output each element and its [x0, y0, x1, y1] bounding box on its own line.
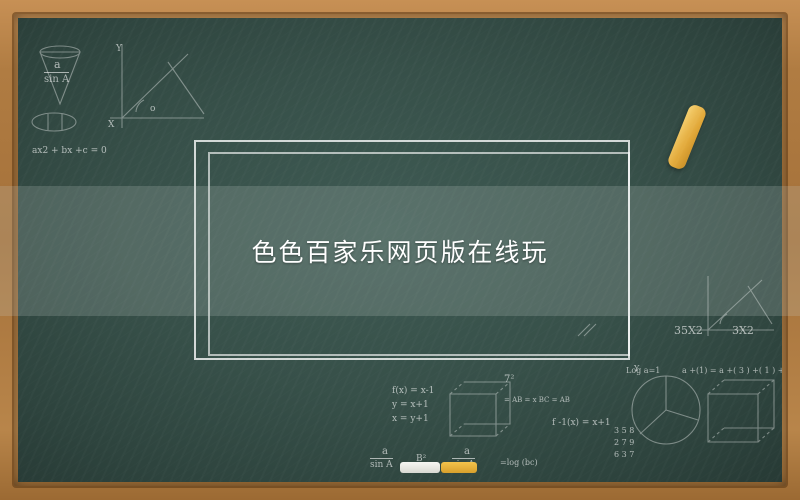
log-bc: =log (bc) — [500, 458, 538, 467]
fraction-a-1: a — [382, 446, 388, 457]
fraction-sin-1: sin A — [370, 458, 393, 470]
axis-label-x: X — [108, 120, 114, 130]
formula-scribble: a +(1) = a +( 3 ) +( 1 ) +( 1 ) — [682, 366, 782, 375]
white-chalk-stick — [400, 462, 440, 473]
log-label: Log a=1 — [626, 366, 660, 375]
yellow-chalk-stick — [441, 462, 477, 473]
function-line-1: f(x) = x-1 — [392, 386, 434, 396]
axis-label-y: Y — [116, 44, 122, 54]
fraction-a-2: a — [464, 446, 470, 457]
axis-label-y2: Y — [634, 364, 639, 373]
function-line-2: y = x+1 — [392, 400, 429, 410]
cone-figure-denominator: sin A — [44, 72, 69, 85]
digits-3: 6 3 7 — [614, 450, 634, 459]
set-note: = AB = x BC = AB — [504, 396, 570, 404]
digits-2: 2 7 9 — [614, 438, 634, 447]
function-line-3: x = y+1 — [392, 414, 429, 424]
inverse-function: f -1(x) = x+1 — [552, 418, 611, 428]
cone-figure-label: a — [54, 58, 61, 71]
multiplication-b: 3X2 — [732, 324, 754, 337]
exponent-note: 7² — [504, 374, 514, 385]
quadratic-equation: ax2 + bx +c = 0 — [32, 146, 107, 156]
digits-1: 3 5 8 — [614, 426, 634, 435]
screenshot-root: a sin A Y X o ax2 + bx +c = 0 35X2 3X2 L… — [0, 0, 800, 500]
multiplication-a: 35X2 — [674, 324, 703, 337]
page-title: 色色百家乐网页版在线玩 — [0, 186, 800, 316]
angle-label-o: o — [150, 104, 155, 114]
